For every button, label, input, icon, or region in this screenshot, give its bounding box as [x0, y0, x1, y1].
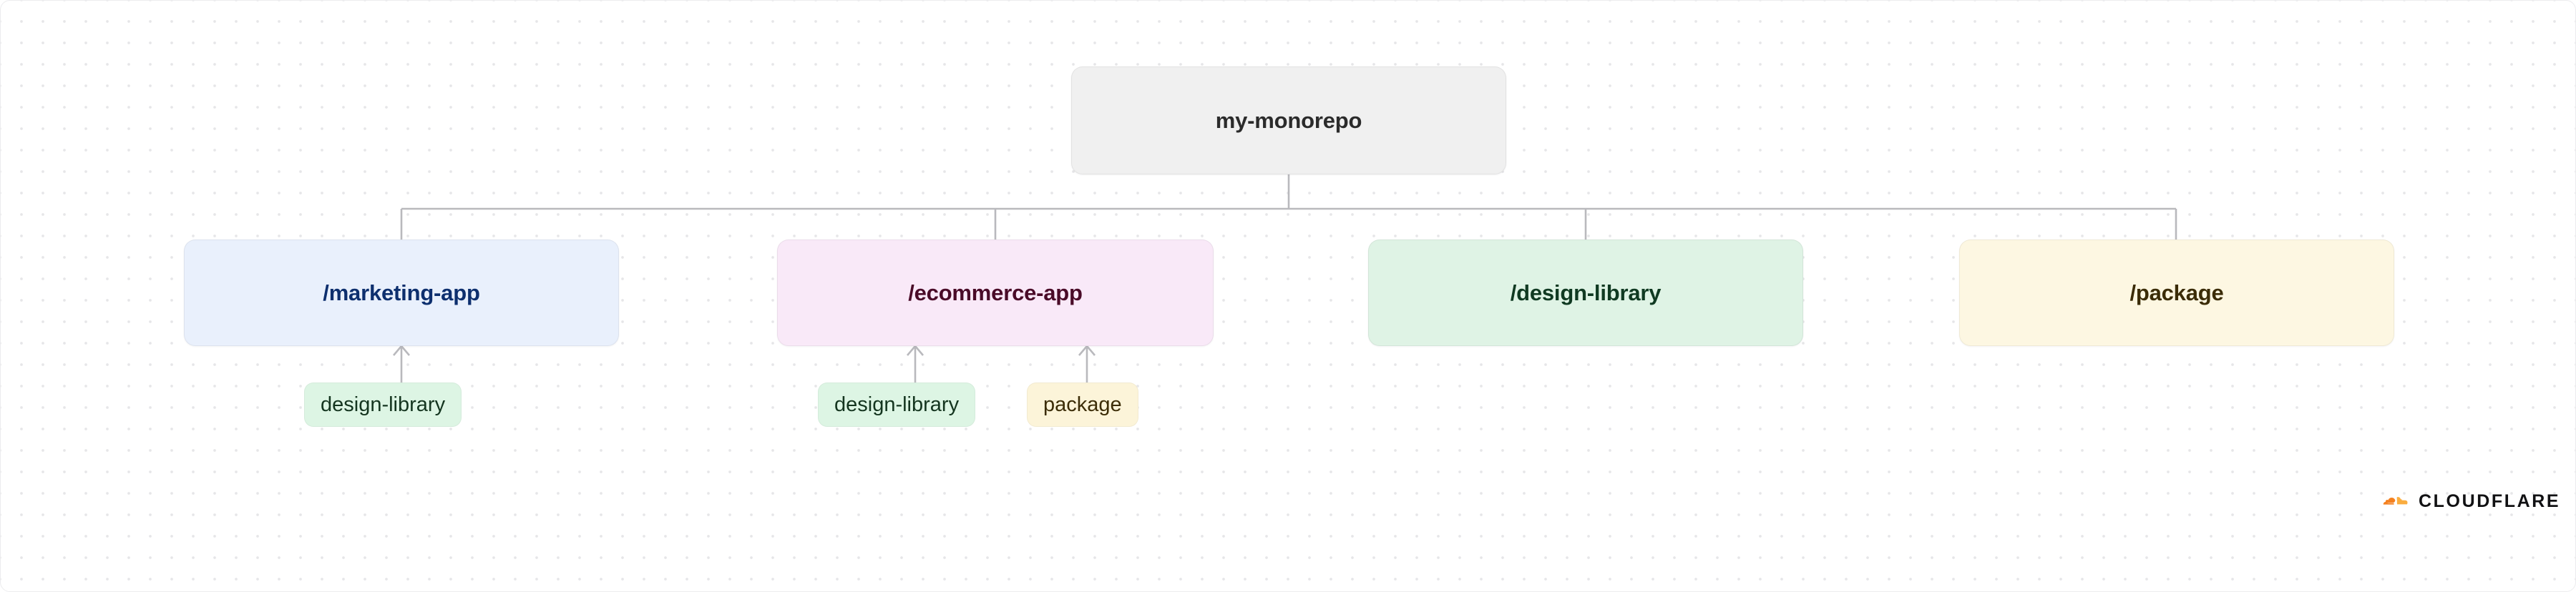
node-ecommerce-app-label: /ecommerce-app — [908, 280, 1083, 306]
chip-ecommerce-design-library[interactable]: design-library — [818, 383, 975, 427]
chip-marketing-design-library-label: design-library — [321, 393, 445, 417]
chip-ecommerce-package[interactable]: package — [1027, 383, 1138, 427]
arrowhead-marketing-design-library — [394, 346, 409, 355]
diagram-canvas: my-monorepo /marketing-app /ecommerce-ap… — [0, 0, 2576, 592]
cloudflare-logo: CLOUDFLARE — [2362, 490, 2560, 513]
node-marketing-app[interactable]: /marketing-app — [184, 240, 619, 346]
arrowhead-ecommerce-design-library — [907, 346, 923, 355]
node-package-label: /package — [2129, 280, 2223, 306]
cloudflare-cloud-icon — [2362, 490, 2409, 513]
chip-ecommerce-package-label: package — [1043, 393, 1122, 417]
arrowhead-ecommerce-package — [1079, 346, 1095, 355]
chip-ecommerce-design-library-label: design-library — [834, 393, 959, 417]
node-root[interactable]: my-monorepo — [1071, 66, 1506, 174]
node-marketing-app-label: /marketing-app — [323, 280, 479, 306]
node-design-library[interactable]: /design-library — [1368, 240, 1803, 346]
node-package[interactable]: /package — [1959, 240, 2394, 346]
chip-marketing-design-library[interactable]: design-library — [304, 383, 462, 427]
node-ecommerce-app[interactable]: /ecommerce-app — [777, 240, 1214, 346]
node-design-library-label: /design-library — [1511, 280, 1662, 306]
cloudflare-wordmark: CLOUDFLARE — [2419, 493, 2560, 510]
node-root-label: my-monorepo — [1216, 108, 1362, 134]
